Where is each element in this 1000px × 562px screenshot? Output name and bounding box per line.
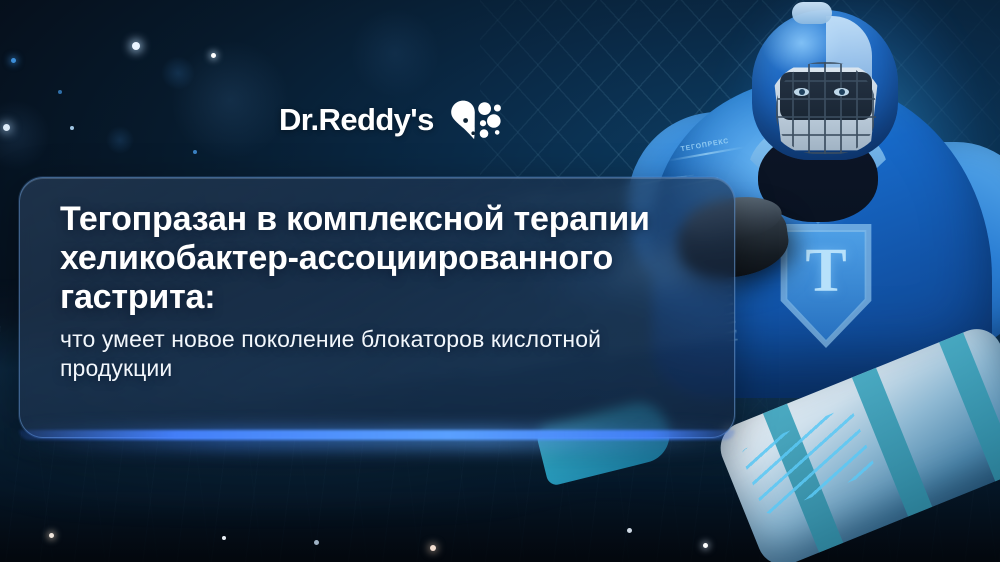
headline-panel: Тегопразан в комплексной терапии хеликоб… <box>19 177 735 438</box>
headline-text-block: Тегопразан в комплексной терапии хеликоб… <box>60 200 708 383</box>
panel-underglow-line <box>19 430 735 440</box>
goalie-eye-left <box>794 88 809 96</box>
dr-reddys-heart-dots-logo-icon <box>448 99 504 141</box>
pad-strap <box>939 333 1000 482</box>
goalie-eye-right <box>834 88 849 96</box>
page-subtitle: что умеет новое поколение блокаторов кис… <box>60 325 708 383</box>
brand-wordmark: Dr.Reddy's <box>279 102 434 138</box>
brand-logo[interactable]: Dr.Reddy's <box>279 99 504 141</box>
helmet-cage-bars <box>776 62 876 154</box>
page-title: Тегопразан в комплексной терапии хеликоб… <box>60 200 708 316</box>
helmet-top-vent <box>792 2 832 24</box>
banner-root: T ТЕГОПРЕКС Dr.Reddy's <box>0 0 1000 562</box>
